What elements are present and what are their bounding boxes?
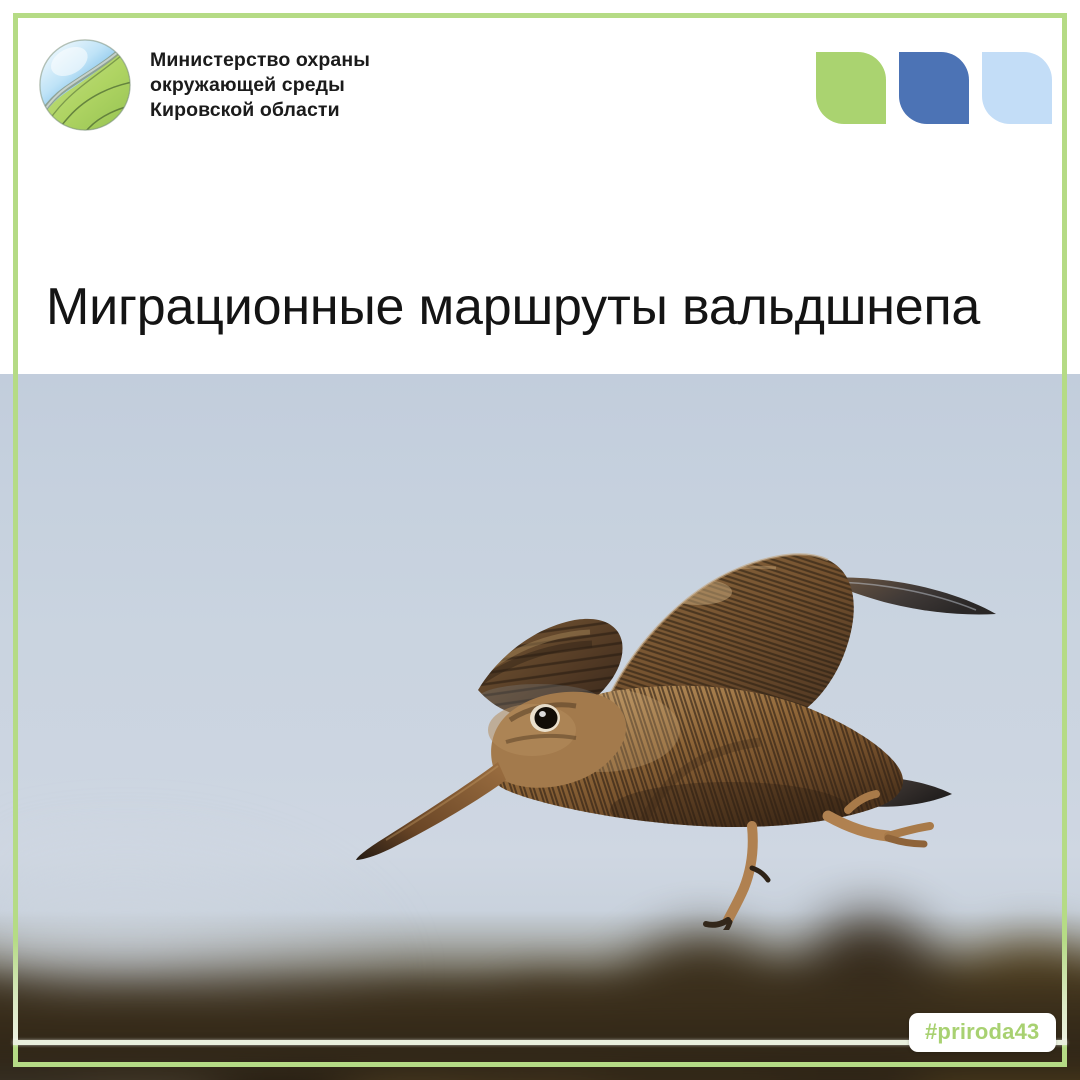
decorative-leaves bbox=[816, 52, 1052, 124]
woodcock-bird bbox=[300, 530, 1000, 930]
hashtag-badge[interactable]: #priroda43 bbox=[909, 1013, 1056, 1052]
leaf-shape-light-blue bbox=[982, 52, 1052, 124]
page-title: Миграционные маршруты вальдшнепа bbox=[46, 277, 1056, 337]
leaf-shape-blue bbox=[899, 52, 969, 124]
photo-woodcock bbox=[0, 374, 1080, 1080]
header-panel: Министерство охраны окружающей среды Кир… bbox=[0, 0, 1080, 374]
brand-logo-block: Министерство охраны окружающей среды Кир… bbox=[36, 36, 370, 134]
sphere-leaf-logo-icon bbox=[36, 36, 134, 134]
leaf-shape-green bbox=[816, 52, 886, 124]
poster-canvas: Министерство охраны окружающей среды Кир… bbox=[0, 0, 1080, 1080]
hashtag-text: #priroda43 bbox=[925, 1021, 1040, 1043]
organization-name: Министерство охраны окружающей среды Кир… bbox=[150, 48, 370, 123]
